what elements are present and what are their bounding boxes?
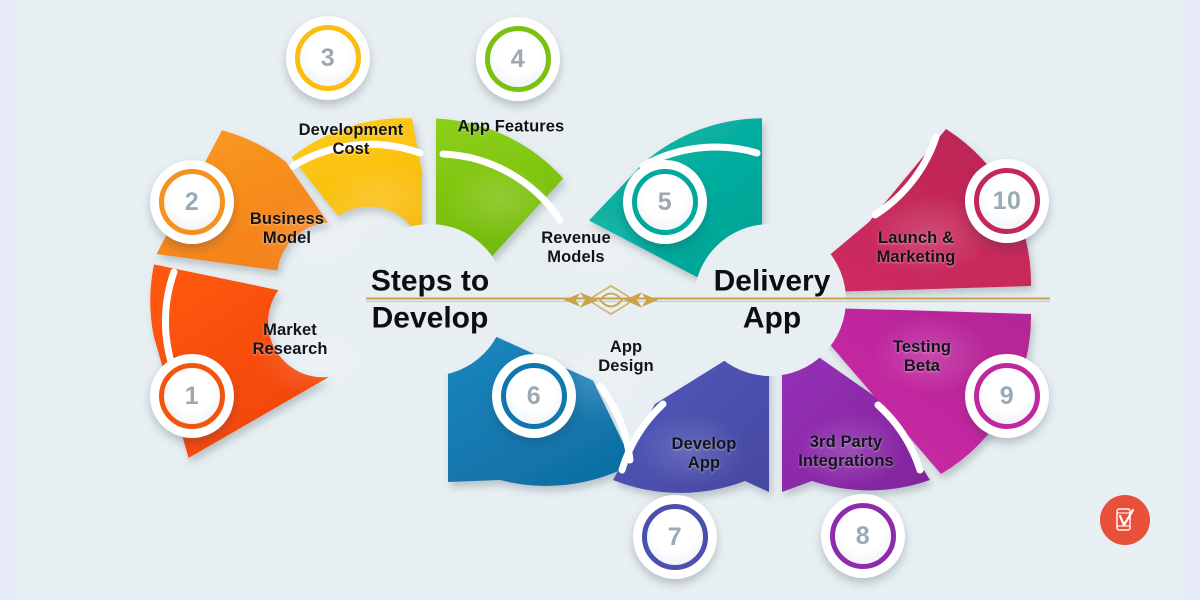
step-number-5: 5 [658,190,672,215]
step-badge-5[interactable]: 5 [623,160,707,244]
step-number-10: 10 [993,189,1022,214]
wheel-artwork [0,0,1200,600]
left-hub [354,224,506,376]
step-number-7: 7 [668,525,682,550]
infographic-canvas: Steps to Develop Delivery App Market Res… [0,0,1200,600]
step-number-4: 4 [511,47,525,72]
step-number-2: 2 [185,190,199,215]
step-badge-7[interactable]: 7 [633,495,717,579]
step-number-8: 8 [856,524,870,549]
brand-logo[interactable] [1100,495,1150,545]
step-badge-8[interactable]: 8 [821,494,905,578]
step-number-1: 1 [185,384,199,409]
step-number-3: 3 [321,46,335,71]
right-hub [694,224,846,376]
step-badge-6[interactable]: 6 [492,354,576,438]
step-number-9: 9 [1000,384,1014,409]
step-badge-2[interactable]: 2 [150,160,234,244]
step-badge-1[interactable]: 1 [150,354,234,438]
mobile-check-icon [1110,505,1140,535]
step-badge-9[interactable]: 9 [965,354,1049,438]
step-badge-4[interactable]: 4 [476,17,560,101]
step-badge-3[interactable]: 3 [286,16,370,100]
step-badge-10[interactable]: 10 [965,159,1049,243]
step-number-6: 6 [527,384,541,409]
